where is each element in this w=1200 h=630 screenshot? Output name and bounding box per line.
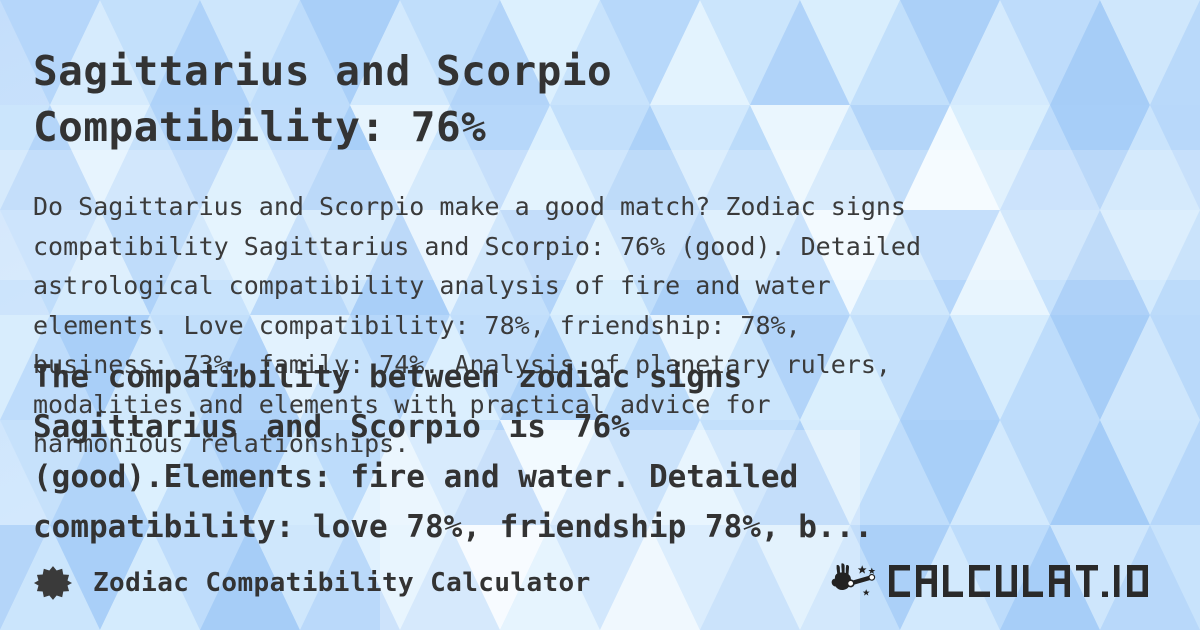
summary-detail-lead: Detailed [649,459,798,495]
compatibility-summary: The compatibility between zodiac signs S… [33,352,1173,552]
starburst-icon [33,563,73,603]
summary-elements-label: Elements: [164,459,332,495]
footer-brand-left: Zodiac Compatibility Calculator [33,563,591,603]
brand-wordmark-calculatio [887,563,1167,603]
summary-percent: 76% [574,409,630,445]
page-title: Sagittarius and Scorpio Compatibility: 7… [33,43,1133,155]
card-footer: Zodiac Compatibility Calculator [0,552,1200,614]
summary-friendship: friendship 78%, [500,509,780,545]
summary-prefix: The compatibility between zodiac signs [33,359,742,395]
summary-sign-b: Scorpio [350,409,481,445]
summary-verb: is [509,409,546,445]
social-share-card: Sagittarius and Scorpio Compatibility: 7… [0,0,1200,630]
summary-conjunction: and [266,409,322,445]
summary-love: love 78%, [313,509,481,545]
summary-elements-value: fire and water. [350,459,630,495]
summary-rating: (good). [33,459,164,495]
footer-label: Zodiac Compatibility Calculator [93,568,591,598]
summary-sign-a: Sagittarius [33,409,238,445]
magic-wand-hand-icon [831,562,883,604]
brand-logo[interactable] [831,562,1167,604]
summary-truncated: b... [798,509,873,545]
summary-detail-label: compatibility: [33,509,294,545]
